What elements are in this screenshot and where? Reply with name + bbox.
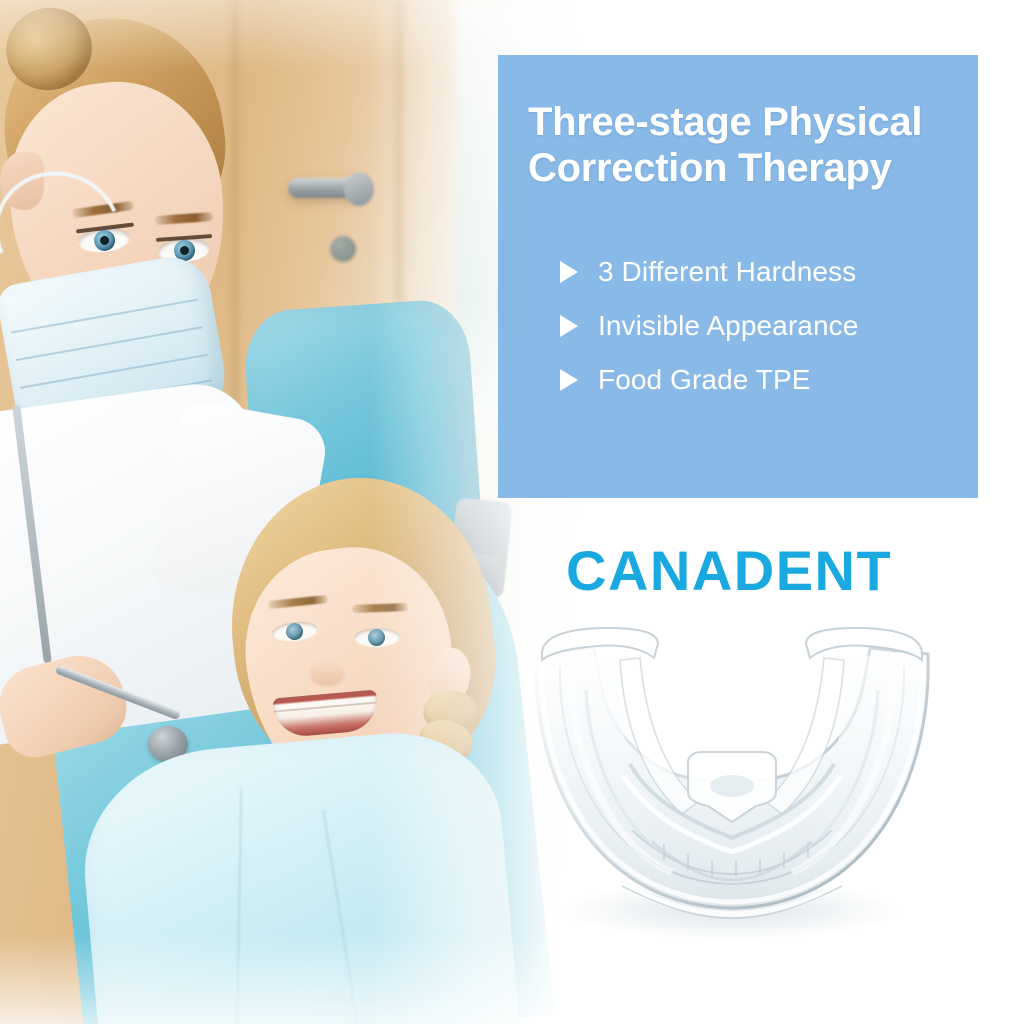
triangle-right-icon <box>560 369 578 391</box>
feature-label: 3 Different Hardness <box>598 258 856 286</box>
feature-label: Invisible Appearance <box>598 312 858 340</box>
door-lock-icon <box>330 236 356 262</box>
feature-item: Invisible Appearance <box>560 312 952 340</box>
info-panel: Three-stage Physical Correction Therapy … <box>498 55 978 498</box>
triangle-right-icon <box>560 261 578 283</box>
door-handle-icon <box>288 178 366 198</box>
triangle-right-icon <box>560 315 578 337</box>
panel-title: Three-stage Physical Correction Therapy <box>528 99 952 192</box>
product-banner: Female dentist wearing a surgical mask s… <box>0 0 1024 1024</box>
product-image: Transparent dental mouthguard / teeth al… <box>512 614 952 944</box>
feature-item: 3 Different Hardness <box>560 258 952 286</box>
feature-label: Food Grade TPE <box>598 366 811 394</box>
feature-item: Food Grade TPE <box>560 366 952 394</box>
child-nose <box>310 660 344 686</box>
feature-list: 3 Different Hardness Invisible Appearanc… <box>528 258 952 394</box>
brand-wordmark: CANADENT <box>566 543 892 599</box>
